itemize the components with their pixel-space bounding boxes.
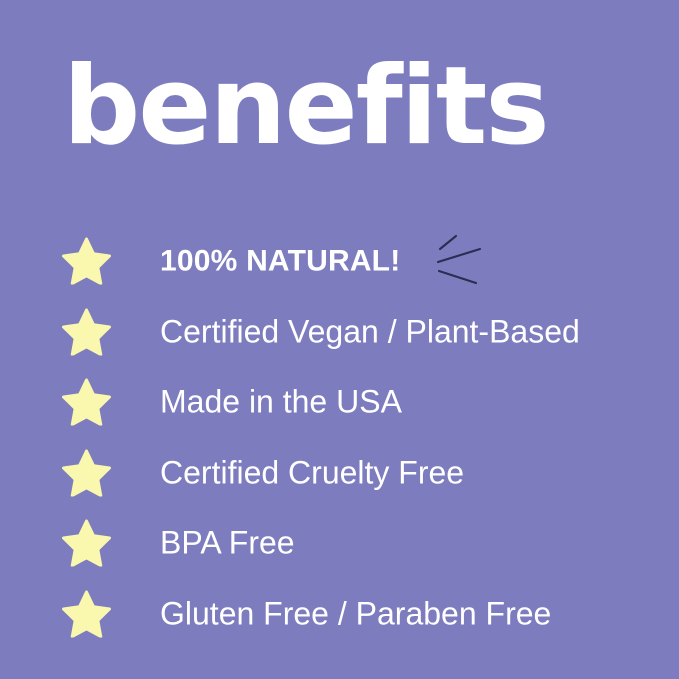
list-item: Certified Cruelty Free bbox=[0, 438, 679, 509]
list-item: Made in the USA bbox=[0, 367, 679, 438]
benefits-list: 100% NATURAL! Certified Vegan / Plant-Ba… bbox=[0, 226, 679, 649]
list-item-label: Certified Vegan / Plant-Based bbox=[160, 314, 580, 349]
list-item: BPA Free bbox=[0, 508, 679, 579]
list-item: 100% NATURAL! bbox=[0, 226, 679, 297]
list-item-label: Gluten Free / Paraben Free bbox=[160, 596, 551, 631]
benefits-card: benefits 100% NATURAL! bbox=[0, 0, 679, 679]
list-item: Gluten Free / Paraben Free bbox=[0, 579, 679, 650]
star-icon bbox=[62, 520, 111, 567]
sparkle-lines-icon bbox=[436, 233, 490, 289]
list-item-label: 100% NATURAL! bbox=[160, 245, 400, 278]
list-item: Certified Vegan / Plant-Based bbox=[0, 297, 679, 368]
star-icon bbox=[62, 308, 111, 355]
star-icon bbox=[62, 449, 111, 496]
star-icon bbox=[62, 238, 111, 285]
star-icon bbox=[62, 590, 111, 637]
list-item-label: Made in the USA bbox=[160, 385, 402, 420]
list-item-label: Certified Cruelty Free bbox=[160, 455, 464, 490]
star-icon bbox=[62, 379, 111, 426]
list-item-label: BPA Free bbox=[160, 526, 295, 561]
page-title: benefits bbox=[63, 53, 548, 161]
